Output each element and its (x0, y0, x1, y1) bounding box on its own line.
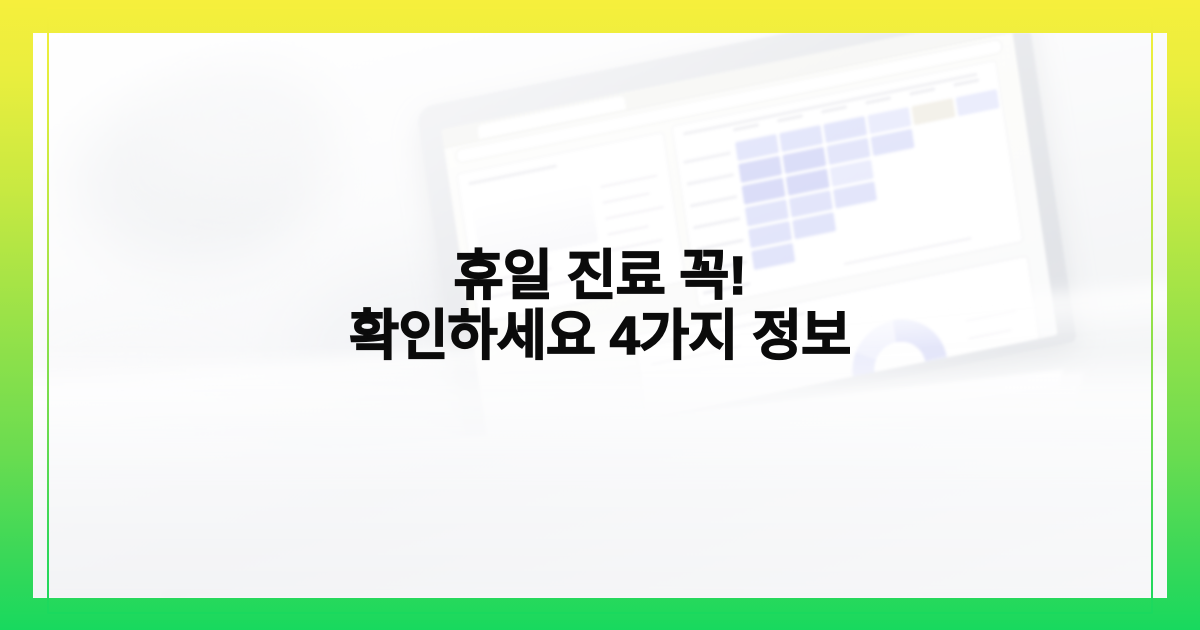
page-title: 휴일 진료 꼭! 확인하세요 4가지 정보 (0, 246, 1200, 367)
headline-line-2: 확인하세요 4가지 정보 (0, 306, 1200, 366)
thumbnail-banner: 휴일 진료 꼭! 확인하세요 4가지 정보 (0, 0, 1200, 630)
headline-line-1: 휴일 진료 꼭! (0, 246, 1200, 306)
